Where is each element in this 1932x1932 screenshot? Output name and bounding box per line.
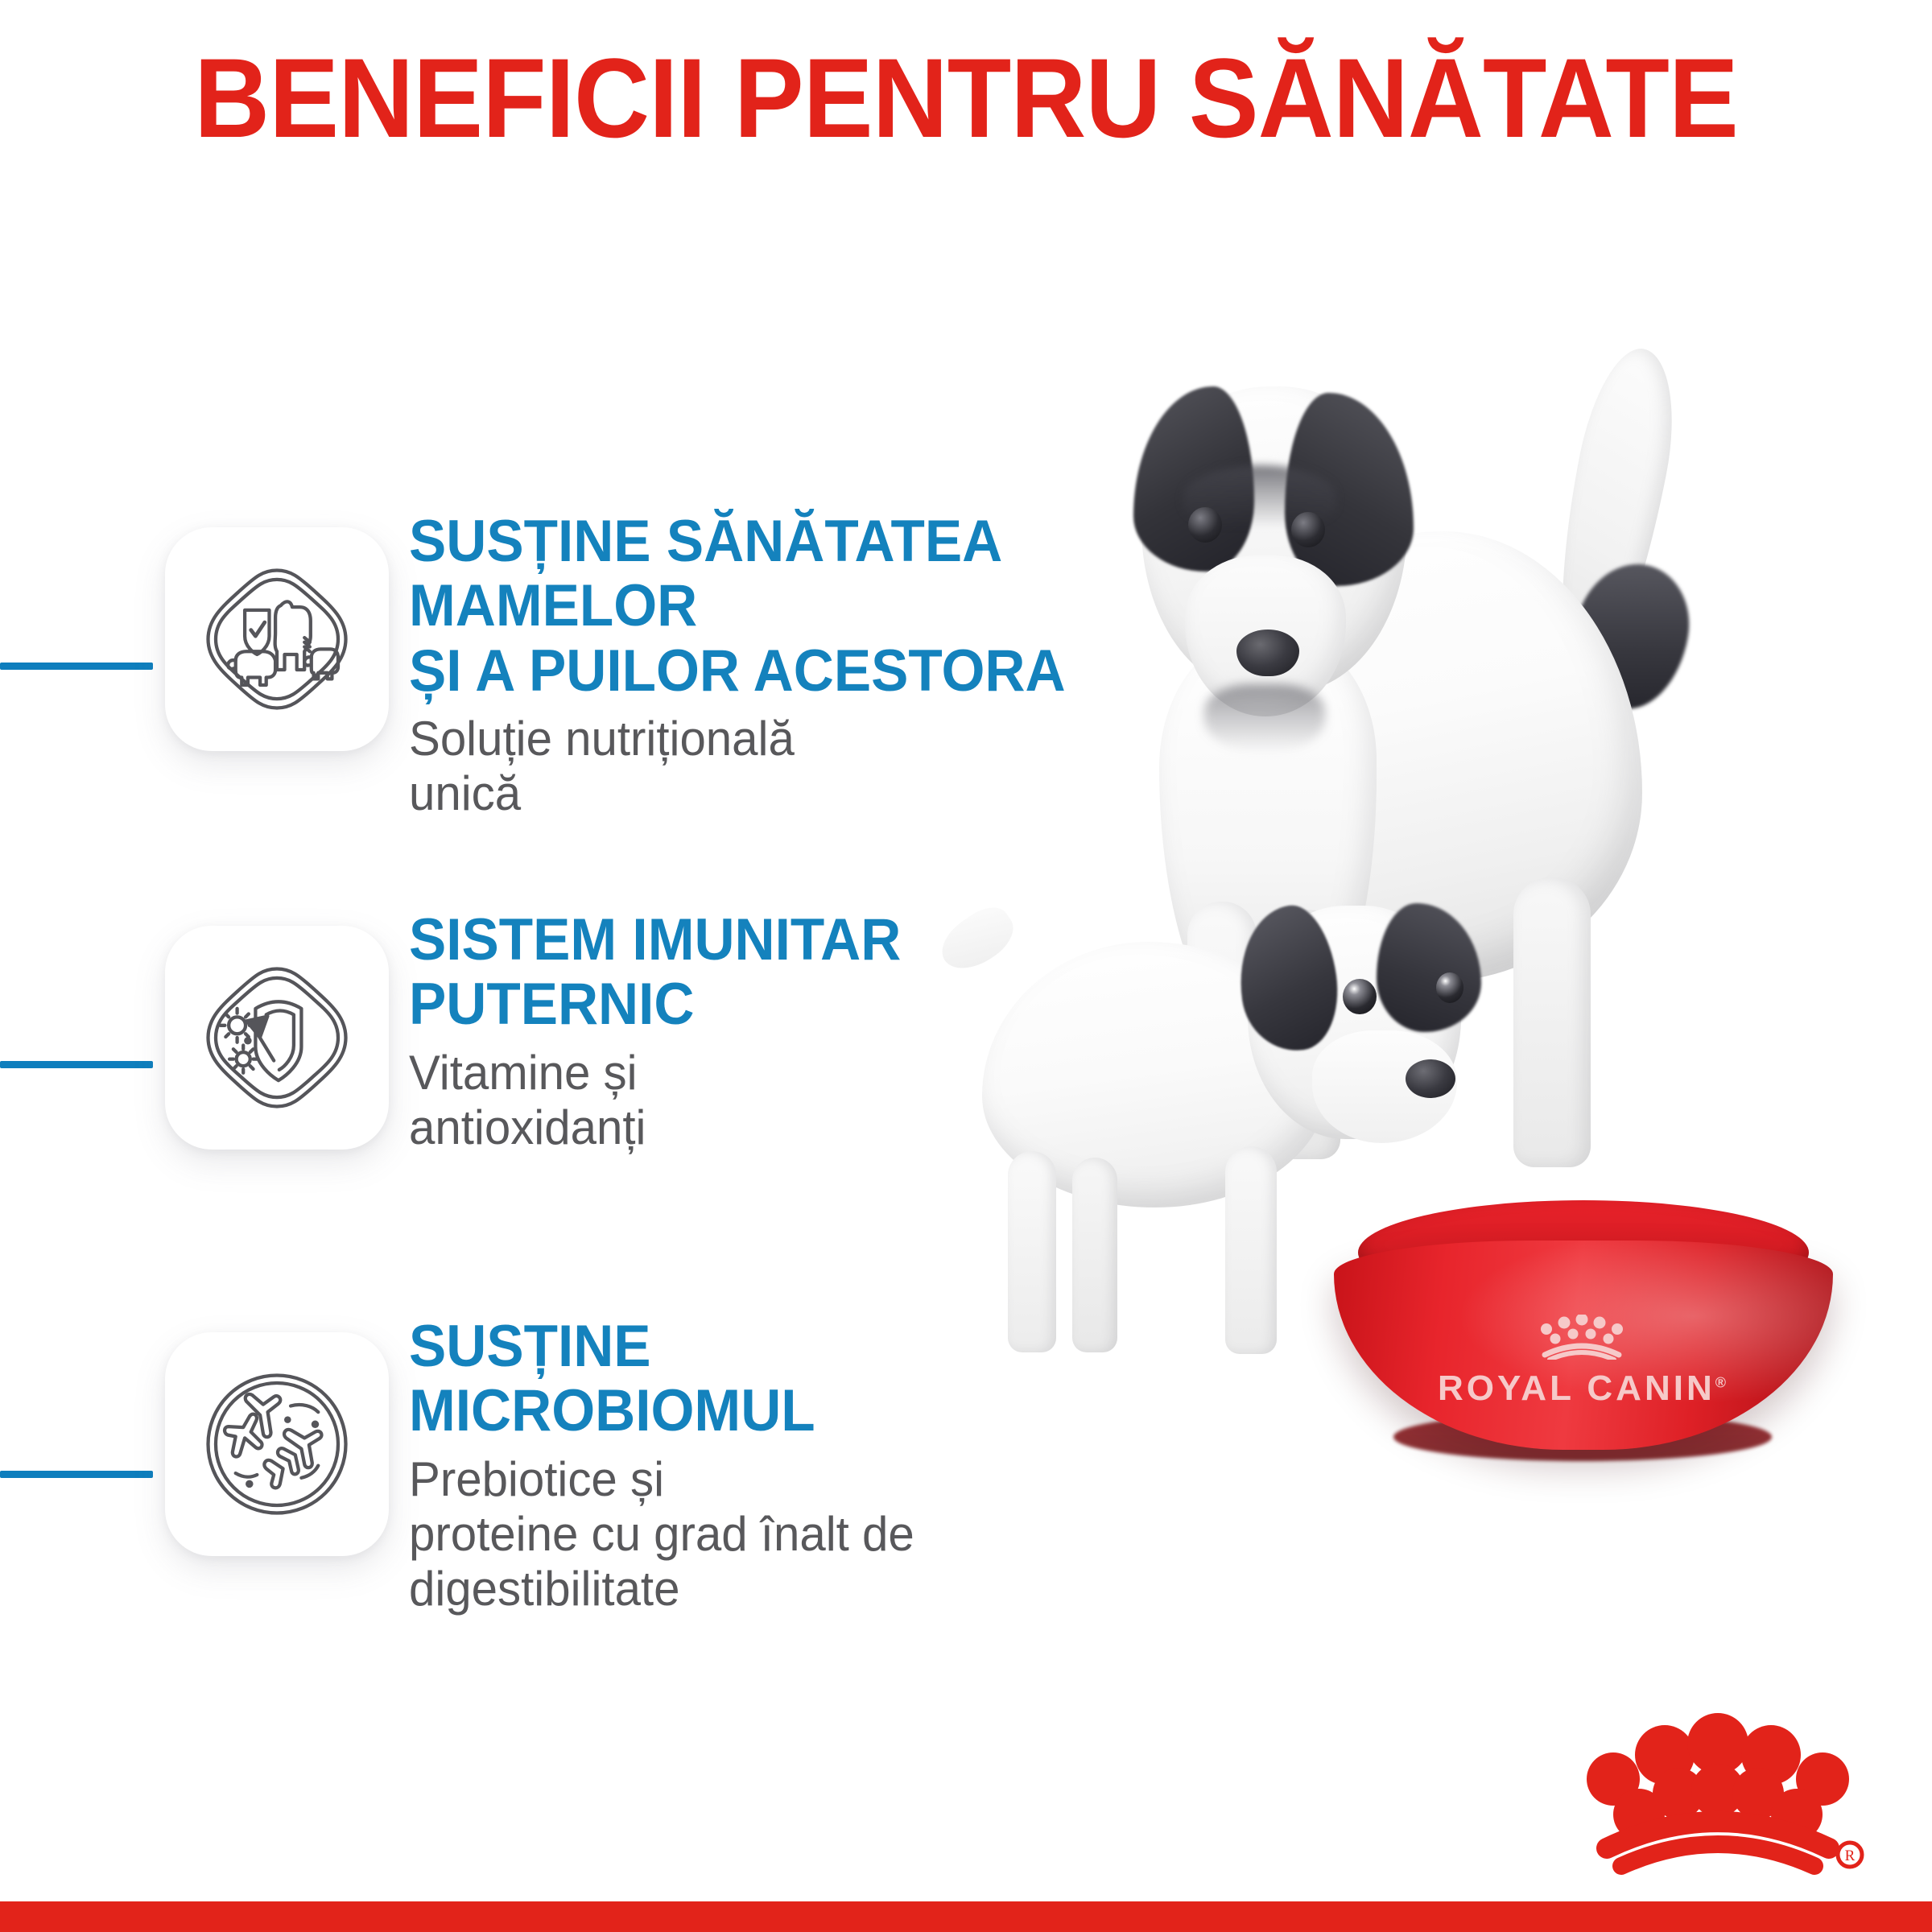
- benefit-heading-2: SISTEM IMUNITAR PUTERNIC: [409, 908, 1166, 1038]
- benefit-text-3: SUSȚINE MICROBIOMUL Prebiotice și protei…: [409, 1315, 1206, 1617]
- puppy-ear: [1230, 901, 1346, 1058]
- microbiome-bacteria-icon: [200, 1368, 353, 1521]
- puppy-eye-left: [1343, 979, 1377, 1014]
- benefit-heading-3: SUSȚINE MICROBIOMUL: [409, 1315, 1166, 1444]
- adult-dog-tail: [1536, 341, 1689, 697]
- bowl-base: [1393, 1413, 1772, 1461]
- adult-dog-muzzle: [1185, 555, 1346, 716]
- benefit-icon-card-2: [165, 926, 389, 1150]
- adult-dog-front-leg-right: [1276, 910, 1340, 1159]
- adult-dog-brow-shadow: [1183, 465, 1336, 528]
- benefit-icon-card-1: [165, 527, 389, 751]
- bowl-brand-logo: ROYAL CANIN®: [1316, 1315, 1847, 1409]
- puppy-eye-right: [1436, 972, 1463, 1003]
- bowl-crown-icon: [1534, 1315, 1630, 1360]
- crown-logo-icon: R: [1576, 1705, 1874, 1890]
- adult-dog-ear-right: [1285, 393, 1414, 586]
- adult-dog-hind-leg: [1513, 877, 1591, 1167]
- bowl-brand-text: ROYAL CANIN®: [1316, 1368, 1847, 1409]
- benefit-subtext-2: Vitamine și antioxidanți: [409, 1046, 1182, 1156]
- puppy-muzzle: [1312, 1030, 1457, 1143]
- connector-line-2: [0, 1061, 153, 1068]
- adult-dog-beard: [1204, 684, 1325, 753]
- food-bowl: ROYAL CANIN®: [1316, 1212, 1847, 1477]
- puppy-head: [1248, 906, 1461, 1139]
- benefit-text-2: SISTEM IMUNITAR PUTERNIC Vitamine și ant…: [409, 908, 1206, 1155]
- mother-and-puppies-shield-icon: [200, 563, 353, 716]
- bowl-body: [1334, 1241, 1833, 1450]
- connector-line-1: [0, 663, 153, 670]
- benefit-text-1: SUSȚINE SĂNĂTATEA MAMELOR ȘI A PUILOR AC…: [409, 510, 1206, 822]
- benefit-icon-card-3: [165, 1332, 389, 1556]
- royal-canin-crown-logo: R: [1576, 1705, 1874, 1890]
- benefit-heading-1: SUSȚINE SĂNĂTATEA MAMELOR ȘI A PUILOR AC…: [409, 510, 1166, 704]
- adult-dog-eye-right: [1291, 512, 1325, 547]
- adult-dog-tail-patch: [1563, 555, 1699, 717]
- adult-dog-body: [1191, 531, 1642, 982]
- puppy-head-patch: [1377, 903, 1481, 1032]
- bowl-rim: [1358, 1200, 1809, 1305]
- registered-mark: R: [1845, 1847, 1856, 1864]
- footer-red-bar: [0, 1901, 1932, 1932]
- puppy-hind-leg: [1225, 1146, 1277, 1354]
- kibble: [1382, 1215, 1785, 1303]
- benefit-subtext-1: Soluție nutrițională unică: [409, 712, 1182, 822]
- page-title: BENEFICII PENTRU SĂNĂTATE: [68, 39, 1864, 157]
- immune-shield-germs-icon: [200, 961, 353, 1114]
- puppy-nose: [1406, 1059, 1455, 1098]
- benefit-subtext-3: Prebiotice și proteine cu grad înalt de …: [409, 1452, 1182, 1617]
- connector-line-3: [0, 1471, 153, 1478]
- adult-dog-nose: [1236, 630, 1299, 676]
